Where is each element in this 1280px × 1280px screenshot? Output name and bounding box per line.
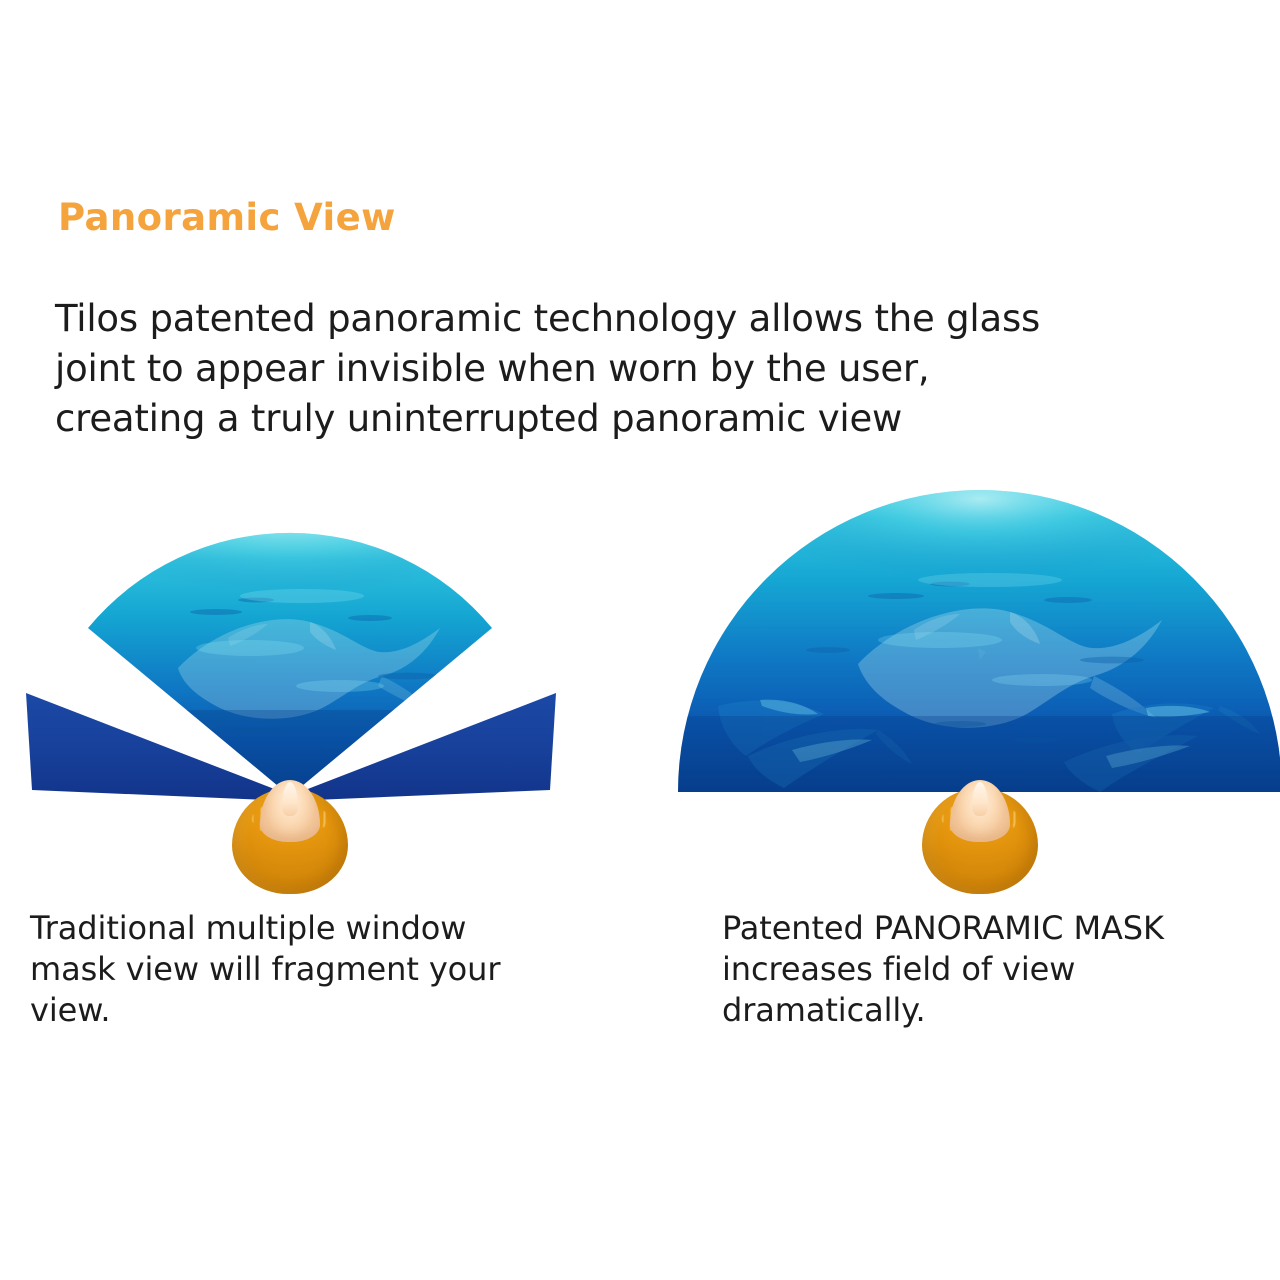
caption-right-line-1: Patented PANORAMIC MASK — [722, 908, 1280, 949]
infographic-page: Panoramic View Tilos patented panoramic … — [0, 0, 1280, 1280]
diver-head-top-view — [922, 780, 1038, 896]
diver-head-top-view — [232, 780, 348, 896]
caption-panoramic-mask: Patented PANORAMIC MASK increases field … — [722, 908, 1280, 1031]
caption-left-line-1: Traditional multiple window — [30, 908, 630, 949]
caption-left-line-2: mask view will fragment your — [30, 949, 630, 990]
intro-line-1: Tilos patented panoramic technology allo… — [55, 294, 1255, 344]
illustration-traditional-mask — [10, 500, 630, 920]
illustration-panoramic-mask — [660, 500, 1280, 920]
caption-right-line-2: increases field of view — [722, 949, 1280, 990]
intro-line-2: joint to appear invisible when worn by t… — [55, 344, 1255, 394]
caption-right-line-3: dramatically. — [722, 990, 1280, 1031]
intro-paragraph: Tilos patented panoramic technology allo… — [55, 294, 1255, 444]
illustration-stage — [0, 500, 1280, 920]
caption-left-line-3: view. — [30, 990, 630, 1031]
intro-line-3: creating a truly uninterrupted panoramic… — [55, 394, 1255, 444]
caption-traditional-mask: Traditional multiple window mask view wi… — [30, 908, 630, 1031]
page-title: Panoramic View — [58, 196, 396, 239]
